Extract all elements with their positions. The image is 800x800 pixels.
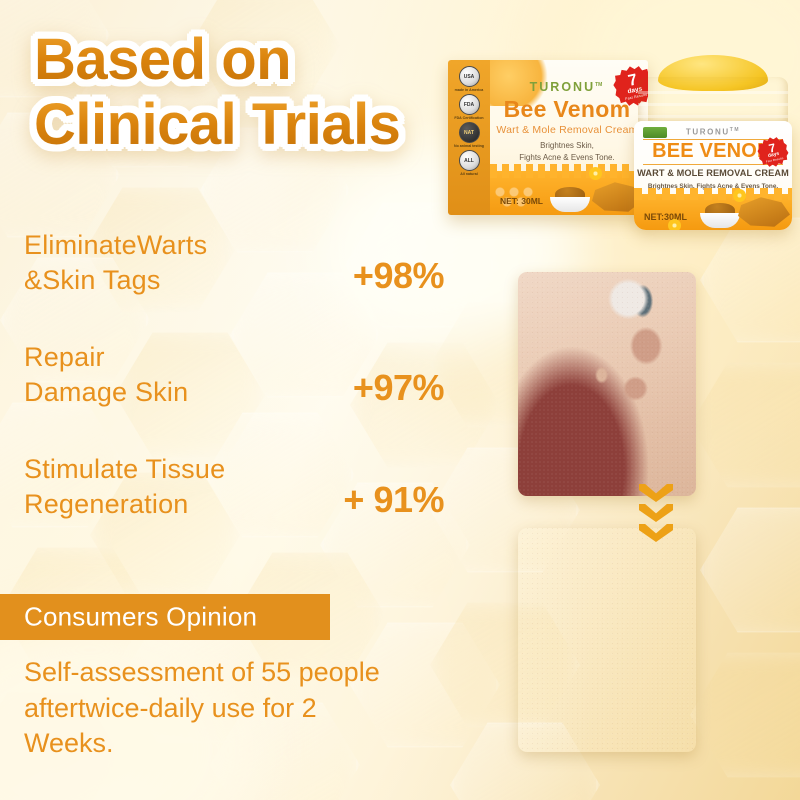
carton-product-subtitle: Wart & Mole Removal Cream [490, 124, 644, 136]
badge-made-in-america: USA made in America [451, 66, 487, 92]
badge-no-animal-testing: NAT No animal testing [451, 122, 487, 148]
headline-line-2: Clinical Trials [34, 95, 464, 154]
flower-icon [733, 189, 746, 202]
transition-arrows [636, 484, 676, 542]
badge-all-natural: ALL All natural [451, 150, 487, 176]
product-jar: TURONUTM BEE VENOM WART & MOLE REMOVAL C… [630, 55, 796, 230]
carton-net-volume: NET: 30ML [500, 196, 543, 206]
consumers-opinion-body: Self-assessment of 55 people aftertwice-… [24, 655, 454, 762]
consumers-opinion-label: Consumers Opinion [24, 602, 257, 633]
after-photo [518, 528, 696, 752]
jar-brand: TURONUTM [634, 127, 792, 137]
chevron-down-icon [639, 504, 673, 522]
badge-caption: No animal testing [451, 144, 487, 148]
consumers-opinion-bar: Consumers Opinion [0, 594, 330, 640]
benefit-percent: +98% [353, 255, 444, 297]
page-title: Based on Clinical Trials [34, 30, 464, 154]
product-carton: USA made in America FDA FDA Certificatio… [448, 60, 648, 215]
chevron-down-icon [639, 484, 673, 502]
benefit-percent: + 91% [343, 479, 444, 521]
cruelty-free-seal-icon: NAT [459, 122, 480, 143]
product-shot: USA made in America FDA FDA Certificatio… [448, 55, 796, 233]
jar-product-subtitle: WART & MOLE REMOVAL CREAM [634, 168, 792, 178]
benefit-row-warts: EliminateWarts&Skin Tags +98% [24, 228, 444, 297]
pollen-bowl-icon [700, 202, 740, 228]
badge-caption: FDA Certification [451, 116, 487, 120]
badge-fda: FDA FDA Certification [451, 94, 487, 120]
usa-flag-icon: USA [459, 66, 480, 87]
pollen-bowl-icon [550, 186, 590, 212]
certification-badge-list: USA made in America FDA FDA Certificatio… [451, 66, 487, 177]
flower-icon [668, 219, 681, 230]
fda-seal-icon: FDA [459, 94, 480, 115]
benefit-percent: +97% [353, 367, 444, 409]
badge-caption: All natural [451, 172, 487, 176]
chevron-down-icon [639, 524, 673, 542]
carton-tagline: Brightnes Skin, Fights Acne & Evens Tone… [490, 140, 644, 165]
jar-bottom-band: NET:30ML [634, 194, 792, 230]
jar-label: TURONUTM BEE VENOM WART & MOLE REMOVAL C… [634, 121, 792, 230]
all-natural-seal-icon: ALL [459, 150, 480, 171]
benefit-row-regeneration: Stimulate TissueRegeneration + 91% [24, 452, 444, 521]
badge-caption: made in America [451, 88, 487, 92]
before-photo [518, 272, 696, 496]
flower-icon [589, 167, 602, 180]
promo-poster: Based on Clinical Trials USA made in Ame… [0, 0, 800, 800]
headline-line-1: Based on [34, 30, 464, 89]
honeycomb-chunk-icon [738, 196, 790, 228]
carton-bottom-band: NET: 30ML [490, 171, 648, 215]
benefit-row-repair: RepairDamage Skin +97% [24, 340, 444, 409]
jar-net-volume: NET:30ML [644, 212, 687, 222]
